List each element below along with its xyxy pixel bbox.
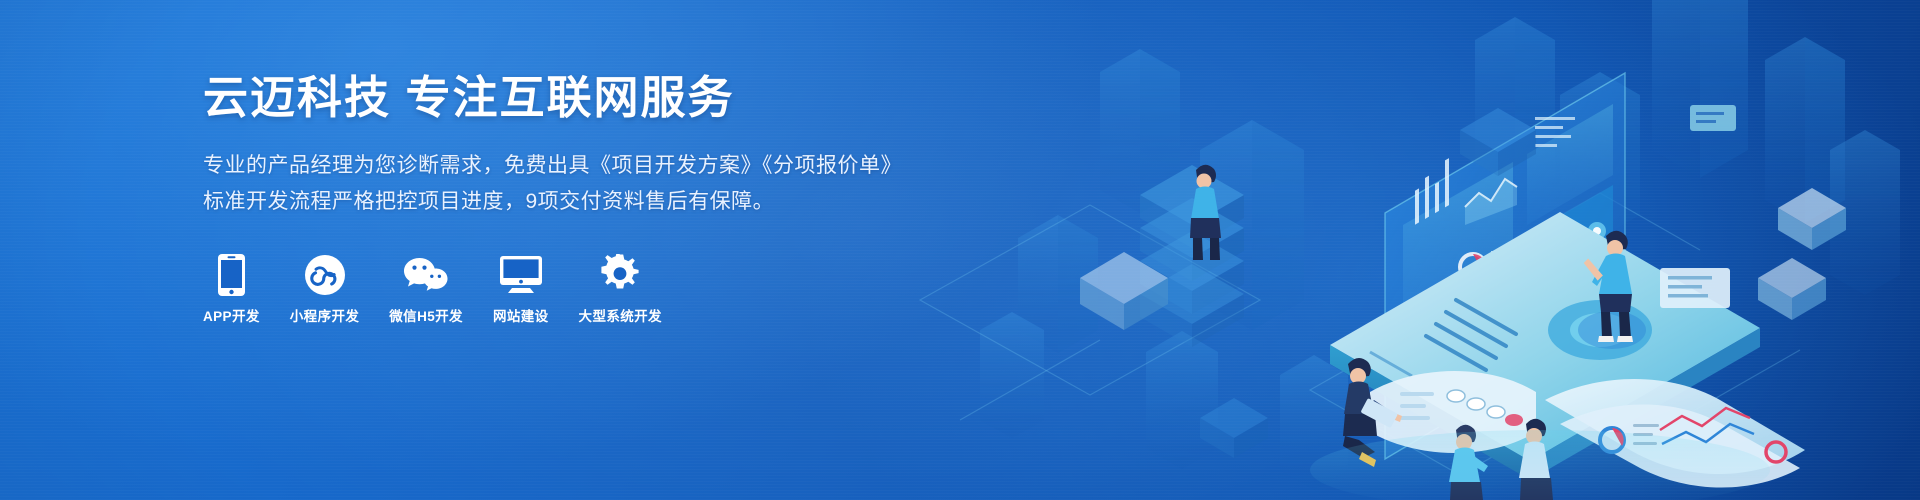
wechat-icon — [403, 254, 449, 296]
service-item-app[interactable]: APP开发 — [203, 254, 260, 325]
service-item-miniprogram[interactable]: 小程序开发 — [290, 254, 360, 325]
page-title: 云迈科技 专注互联网服务 — [203, 70, 923, 126]
service-item-system[interactable]: 大型系统开发 — [579, 254, 662, 325]
service-item-website[interactable]: 网站建设 — [493, 254, 549, 325]
mini-program-icon — [305, 254, 345, 296]
hero-illustration — [900, 0, 1920, 500]
banner-content: 云迈科技 专注互联网服务 专业的产品经理为您诊断需求，免费出具《项目开发方案》《… — [203, 70, 923, 325]
server-stack — [1140, 165, 1244, 347]
mobile-phone-icon — [218, 254, 245, 296]
hero-banner: 云迈科技 专注互联网服务 专业的产品经理为您诊断需求，免费出具《项目开发方案》《… — [0, 0, 1920, 500]
service-label-app: APP开发 — [203, 309, 260, 325]
service-item-wechat[interactable]: 微信H5开发 — [389, 254, 463, 325]
service-icon-row: APP开发 小程序开发 — [203, 254, 923, 325]
gear-icon — [599, 254, 641, 296]
service-label-website: 网站建设 — [493, 309, 549, 325]
monitor-icon — [500, 254, 542, 296]
subtitle-line-2: 标准开发流程严格把控项目进度，9项交付资料售后有保障。 — [203, 184, 923, 220]
banner-subtitle: 专业的产品经理为您诊断需求，免费出具《项目开发方案》《分项报价单》 标准开发流程… — [203, 148, 923, 220]
service-label-system: 大型系统开发 — [579, 309, 662, 325]
service-label-wechat: 微信H5开发 — [389, 309, 463, 325]
service-label-miniprogram: 小程序开发 — [290, 309, 360, 325]
subtitle-line-1: 专业的产品经理为您诊断需求，免费出具《项目开发方案》《分项报价单》 — [203, 148, 923, 184]
